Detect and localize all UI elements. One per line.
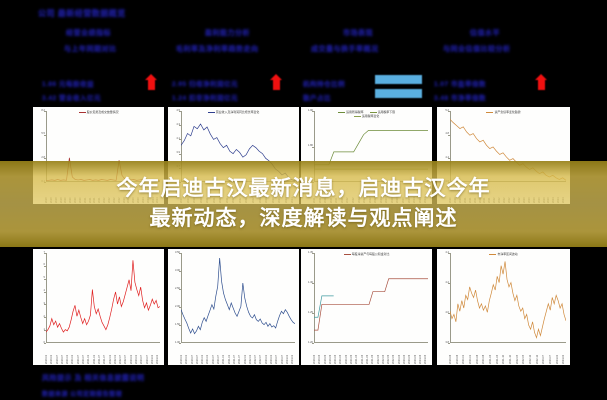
- x-axis-labels: 2019-032019-032019-092019-092020-032020-…: [314, 344, 428, 364]
- x-tick-label: 2023-07: [550, 344, 553, 364]
- x-tick-label: 2024-03: [420, 344, 423, 364]
- x-tick-label: 2021-07: [104, 344, 107, 364]
- x-tick-label: 2020-08: [483, 344, 486, 364]
- x-tick-label: 2024-01: [157, 344, 160, 364]
- x-tick-label: 2020-07: [218, 344, 221, 364]
- dashboard-screenshot: 公司 最新经营数据概览 经营业绩指标 与上年同期对比 盈利能力分析 毛利率及净利…: [0, 0, 607, 400]
- x-tick-label: 2023-03: [404, 344, 407, 364]
- series-line: [181, 258, 295, 334]
- x-tick-label: 2023-01: [136, 344, 139, 364]
- x-tick-label: 2021-03: [490, 344, 493, 364]
- metric-value-3-0: 1.07 市盈率倍数: [434, 78, 486, 88]
- column-sub-3: 与同业估值比较分析: [443, 44, 511, 54]
- metric-value-1-1: 1.24 扣非净利润亿元: [172, 92, 238, 102]
- x-axis-labels: 2019-012019-012019-072019-072020-012020-…: [46, 344, 160, 364]
- x-tick-label: 2022-12: [530, 344, 533, 364]
- chart-panel-6: 3.503.002.502.001.501.002019-012019-0120…: [168, 249, 299, 365]
- x-tick-label: 2021-07: [234, 344, 237, 364]
- x-tick-label: 2024-01: [287, 344, 290, 364]
- trend-up-icon-0: [148, 79, 155, 90]
- x-tick-label: 2024-01: [152, 344, 155, 364]
- column-heading-3: 估值水平: [470, 28, 500, 38]
- column-heading-1: 盈利能力分析: [205, 28, 250, 38]
- metric-value-0-0: 1.86 元每股收益: [42, 78, 94, 88]
- x-tick-label: 2020-01: [202, 344, 205, 364]
- x-tick-label: 2023-01: [131, 344, 134, 364]
- series-canvas: [450, 253, 566, 343]
- x-tick-label: 2020-01: [72, 344, 75, 364]
- x-tick-label: 2023-09: [409, 344, 412, 364]
- x-tick-label: 2023-03: [399, 344, 402, 364]
- x-tick-label: 2023-07: [282, 344, 285, 364]
- x-tick-label: 2024-03: [425, 344, 428, 364]
- x-tick-label: 2022-05: [523, 344, 526, 364]
- headline-overlay: 今年启迪古汉最新消息，启迪古汉今年 最新动态，深度解读与观点阐述: [0, 161, 607, 247]
- x-tick-label: 2022-03: [378, 344, 381, 364]
- x-tick-label: 2021-01: [229, 344, 232, 364]
- x-tick-label: 2022-09: [388, 344, 391, 364]
- x-tick-label: 2021-09: [367, 344, 370, 364]
- footer-subtitle: 数据来源 公司定期报告整理: [42, 389, 122, 398]
- series-canvas: [181, 253, 295, 343]
- x-tick-label: 2021-03: [356, 344, 359, 364]
- x-tick-label: 2022-12: [537, 344, 540, 364]
- metric-value-3-1: 3.48 市净率倍数: [434, 92, 486, 102]
- x-tick-label: 2024-02: [563, 344, 566, 364]
- x-tick-label: 2021-10: [510, 344, 513, 364]
- x-axis-labels: 2019-012019-012019-072019-072020-012020-…: [181, 344, 295, 364]
- x-tick-label: 2020-09: [346, 344, 349, 364]
- x-tick-label: 2023-01: [266, 344, 269, 364]
- chart-panel-8: 市净率区间波动4.44.24.03.82019-062019-062020-01…: [437, 249, 570, 365]
- column-heading-0: 经营业绩指标: [66, 28, 111, 38]
- x-tick-label: 2020-03: [340, 344, 343, 364]
- x-tick-label: 2022-07: [260, 344, 263, 364]
- x-tick-label: 2022-07: [255, 344, 258, 364]
- x-tick-label: 2019-06: [457, 344, 460, 364]
- x-tick-label: 2019-01: [181, 344, 184, 364]
- x-tick-label: 2019-03: [319, 344, 322, 364]
- x-tick-label: 2022-09: [393, 344, 396, 364]
- x-tick-label: 2020-09: [351, 344, 354, 364]
- column-sub-1: 毛利率及净利率趋势走向: [176, 44, 259, 54]
- x-tick-label: 2019-07: [62, 344, 65, 364]
- x-tick-label: 2019-07: [197, 344, 200, 364]
- x-tick-label: 2024-01: [292, 344, 295, 364]
- x-tick-label: 2021-01: [223, 344, 226, 364]
- x-tick-label: 2020-03: [335, 344, 338, 364]
- x-tick-label: 2020-08: [477, 344, 480, 364]
- x-tick-label: 2023-07: [147, 344, 150, 364]
- x-tick-label: 2022-03: [383, 344, 386, 364]
- series-line: [314, 279, 428, 330]
- column-heading-2: 市场表现: [343, 28, 373, 38]
- series-line: [314, 296, 334, 317]
- x-tick-label: 2021-03: [362, 344, 365, 364]
- x-tick-label: 2019-03: [314, 344, 317, 364]
- x-tick-label: 2021-07: [239, 344, 242, 364]
- headline-line-1: 今年启迪古汉最新消息，启迪古汉今年: [117, 174, 491, 204]
- chart-panel-5: 765432102019-012019-012019-072019-072020…: [33, 249, 164, 365]
- dashboard-title: 公司 最新经营数据概览: [38, 8, 126, 19]
- x-tick-label: 2022-05: [517, 344, 520, 364]
- metric-value-2-0: 机构持仓比例: [303, 78, 345, 88]
- x-tick-label: 2021-01: [88, 344, 91, 364]
- x-tick-label: 2020-07: [83, 344, 86, 364]
- x-tick-label: 2019-07: [192, 344, 195, 364]
- series-line: [46, 260, 160, 332]
- x-tick-label: 2020-01: [207, 344, 210, 364]
- column-sub-2: 成交量与换手率概况: [311, 44, 379, 54]
- ratio-bar-lower: [375, 89, 422, 98]
- column-sub-0: 与上年同期对比: [64, 44, 117, 54]
- x-tick-label: 2020-07: [213, 344, 216, 364]
- x-axis-labels: 2019-062019-062020-012020-012020-082020-…: [450, 344, 566, 364]
- x-tick-label: 2019-01: [46, 344, 49, 364]
- x-tick-label: 2022-01: [110, 344, 113, 364]
- trend-up-icon-3: [538, 79, 545, 90]
- x-tick-label: 2021-03: [497, 344, 500, 364]
- plot-area: 1.351.301.251.20: [314, 253, 428, 343]
- series-line: [450, 261, 566, 337]
- x-tick-label: 2022-07: [120, 344, 123, 364]
- plot-area: 76543210: [46, 253, 160, 343]
- x-tick-label: 2022-01: [115, 344, 118, 364]
- x-tick-label: 2023-07: [543, 344, 546, 364]
- x-tick-label: 2023-01: [271, 344, 274, 364]
- x-tick-label: 2021-07: [99, 344, 102, 364]
- chart-panel-7: 每股净资产与每股公积金对比1.351.301.251.202019-032019…: [301, 249, 432, 365]
- x-tick-label: 2021-01: [94, 344, 97, 364]
- x-tick-label: 2021-09: [372, 344, 375, 364]
- x-tick-label: 2019-01: [51, 344, 54, 364]
- x-tick-label: 2019-06: [450, 344, 453, 364]
- headline-line-2: 最新动态，深度解读与观点阐述: [150, 204, 458, 234]
- trend-up-icon-1: [273, 79, 280, 90]
- x-tick-label: 2020-07: [78, 344, 81, 364]
- metric-value-0-1: 3.42 营业收入亿元: [42, 92, 101, 102]
- series-canvas: [314, 253, 428, 343]
- metric-value-2-1: 散户占比: [303, 92, 331, 102]
- footer-title: 风险提示 及 相关信息披露说明: [42, 373, 144, 383]
- x-tick-label: 2020-01: [67, 344, 70, 364]
- x-tick-label: 2021-10: [503, 344, 506, 364]
- x-tick-label: 2020-01: [470, 344, 473, 364]
- metric-value-1-0: 2.95 归母净利润亿元: [172, 78, 238, 88]
- x-tick-label: 2022-07: [125, 344, 128, 364]
- x-tick-label: 2023-07: [141, 344, 144, 364]
- x-tick-label: 2019-07: [57, 344, 60, 364]
- x-tick-label: 2020-01: [463, 344, 466, 364]
- ratio-bar-upper: [375, 75, 422, 84]
- plot-area: 4.44.24.03.8: [450, 253, 566, 343]
- x-tick-label: 2023-07: [276, 344, 279, 364]
- series-canvas: [46, 253, 160, 343]
- x-tick-label: 2022-01: [245, 344, 248, 364]
- series-line: [314, 130, 428, 164]
- x-tick-label: 2019-09: [325, 344, 328, 364]
- x-tick-label: 2019-01: [186, 344, 189, 364]
- x-tick-label: 2023-09: [415, 344, 418, 364]
- x-tick-label: 2022-01: [250, 344, 253, 364]
- plot-area: 3.503.002.502.001.501.00: [181, 253, 295, 343]
- x-tick-label: 2019-09: [330, 344, 333, 364]
- x-tick-label: 2024-02: [557, 344, 560, 364]
